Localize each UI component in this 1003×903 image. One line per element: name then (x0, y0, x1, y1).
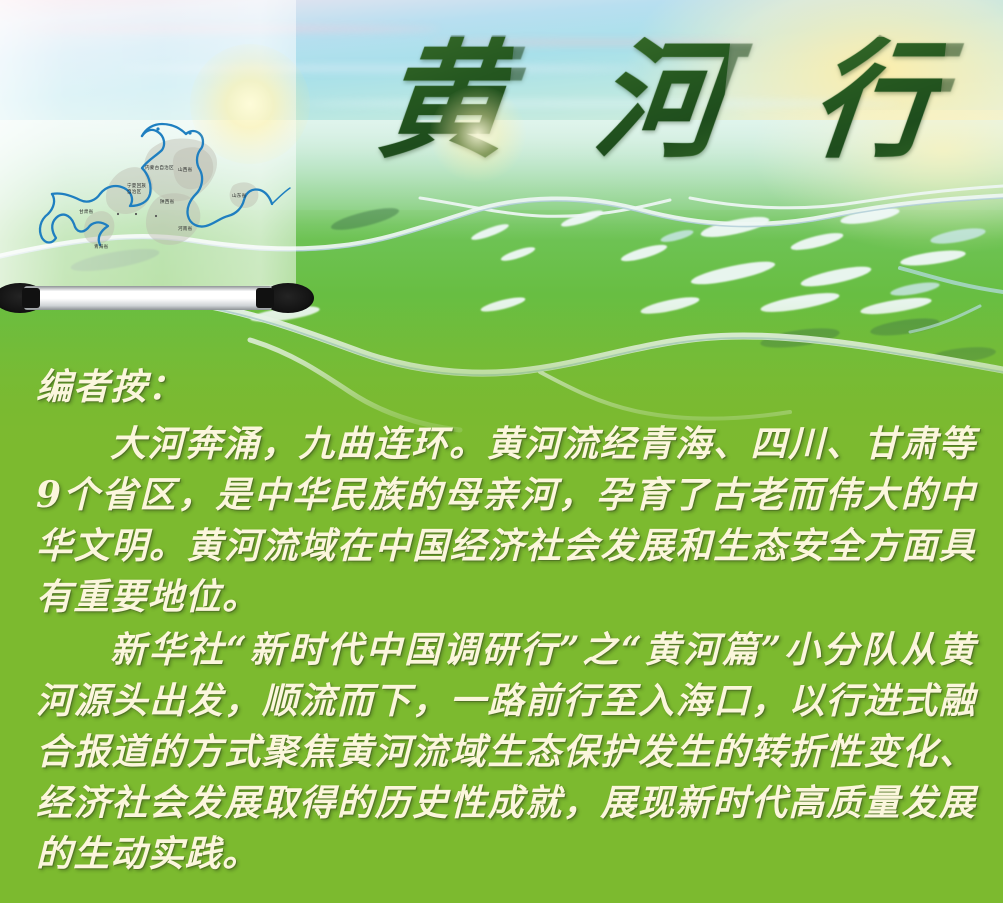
title-char-3: 行 (805, 37, 946, 165)
map-scroll: 内蒙古自治区 宁夏回族 自治区 山西省 陕西省 甘肃省 河南省 山东省 青海省 (0, 0, 296, 320)
editorial-heading: 编者按： (36, 362, 976, 413)
map-label: 陕西省 (160, 200, 174, 206)
scroll-cap-right (256, 288, 274, 308)
map-label: 山东省 (232, 194, 246, 200)
map-label: 甘肃省 (79, 210, 93, 216)
map-label: 青海省 (94, 245, 108, 251)
editorial-paragraph-1: 大河奔涌，九曲连环。黄河流经青海、四川、甘肃等9个省区，是中华民族的母亲河，孕育… (36, 419, 976, 623)
title-char-1: 黄 (373, 37, 514, 165)
editorial-paragraph-2: 新华社“新时代中国调研行”之“黄河篇”小分队从黄河源头出发，顺流而下，一路前行至… (36, 625, 976, 880)
scroll-roller-bar (24, 286, 272, 310)
editorial-block: 编者按： 大河奔涌，九曲连环。黄河流经青海、四川、甘肃等9个省区，是中华民族的母… (36, 362, 976, 880)
map-label: 山西省 (178, 168, 192, 174)
map-label: 宁夏回族 自治区 (127, 184, 146, 195)
poster-title: 黄 河 行 (380, 18, 940, 183)
scroll-cap-left (22, 288, 40, 308)
poster-root: 黄 河 行 (0, 0, 1003, 903)
map-label: 内蒙古自治区 (145, 166, 174, 172)
yellow-river-basin-map (0, 0, 296, 292)
title-char-2: 河 (589, 37, 730, 165)
map-label: 河南省 (178, 227, 192, 233)
